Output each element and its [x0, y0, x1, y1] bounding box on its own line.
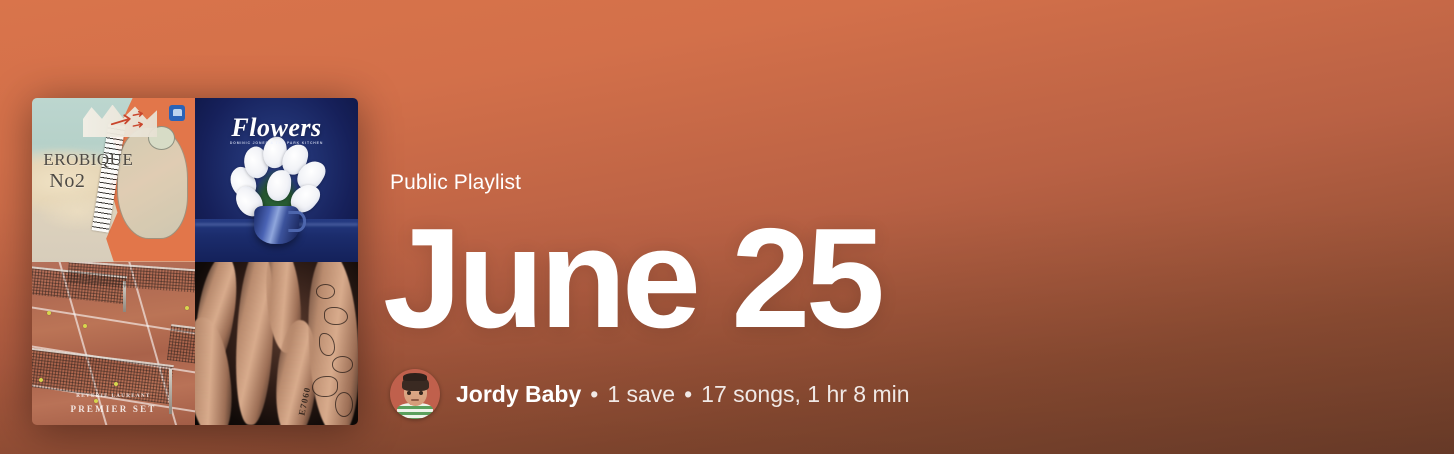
avatar-eye-left	[407, 391, 411, 395]
avatar-eye-right	[419, 391, 423, 395]
playlist-cover-collage[interactable]: EROBIQUE No2 Flowers	[32, 98, 358, 425]
playlist-title[interactable]: June 25	[383, 213, 1422, 345]
meta-separator-dot: •	[590, 383, 598, 406]
tattoo-mark	[332, 356, 353, 372]
premier-set-subtitle: REVERIE LAUREANT	[76, 394, 151, 399]
erobique-subtitle-text: No2	[49, 170, 133, 193]
album-art-legs-tattoos: E7060	[195, 262, 358, 426]
album-art-premier-set: REVERIE LAUREANT PREMIER SET	[32, 262, 195, 426]
tennis-ball	[39, 378, 43, 382]
leg-shape	[195, 315, 238, 425]
playlist-info-column: Public Playlist June 25 Jordy Baby • 1 s	[358, 172, 1422, 425]
save-count: 1 save	[607, 383, 675, 406]
avatar-eyebrow-right	[418, 388, 424, 390]
tattoo-mark	[324, 307, 348, 325]
tennis-ball	[83, 324, 87, 328]
song-count-and-duration: 17 songs, 1 hr 8 min	[701, 383, 909, 406]
avatar-eyebrow-left	[406, 388, 412, 390]
avatar-mouth	[411, 399, 419, 401]
playlist-header-banner: EROBIQUE No2 Flowers	[0, 0, 1454, 454]
tattoo-mark	[316, 284, 336, 299]
erobique-cover-title: EROBIQUE No2	[43, 150, 133, 193]
premier-set-caption: REVERIE LAUREANT PREMIER SET	[32, 392, 195, 419]
tattoo-mark	[312, 376, 338, 397]
owner-avatar[interactable]	[390, 369, 440, 419]
erobique-label-badge-icon	[169, 105, 185, 121]
owner-name-link[interactable]: Jordy Baby	[456, 383, 581, 406]
playlist-visibility-label: Public Playlist	[390, 172, 1422, 193]
tattoo-mark	[335, 392, 353, 417]
album-art-erobique: EROBIQUE No2	[32, 98, 195, 262]
meta-separator-dot: •	[684, 383, 692, 406]
flowers-cover-title: Flowers	[195, 113, 358, 143]
flowers-vase	[254, 206, 300, 244]
tennis-net	[167, 324, 195, 366]
tennis-ball	[185, 306, 189, 310]
erobique-title-text: EROBIQUE	[43, 150, 133, 169]
tennis-ball	[47, 311, 51, 315]
premier-set-title: PREMIER SET	[32, 401, 195, 418]
album-art-flowers: Flowers DOMINIC JONES & THE PARK KITCHEN	[195, 98, 358, 262]
flowers-cover-subtitle: DOMINIC JONES & THE PARK KITCHEN	[195, 141, 358, 145]
erobique-arrow-icon	[110, 111, 146, 134]
playlist-meta-row: Jordy Baby • 1 save • 17 songs, 1 hr 8 m…	[390, 369, 1422, 419]
